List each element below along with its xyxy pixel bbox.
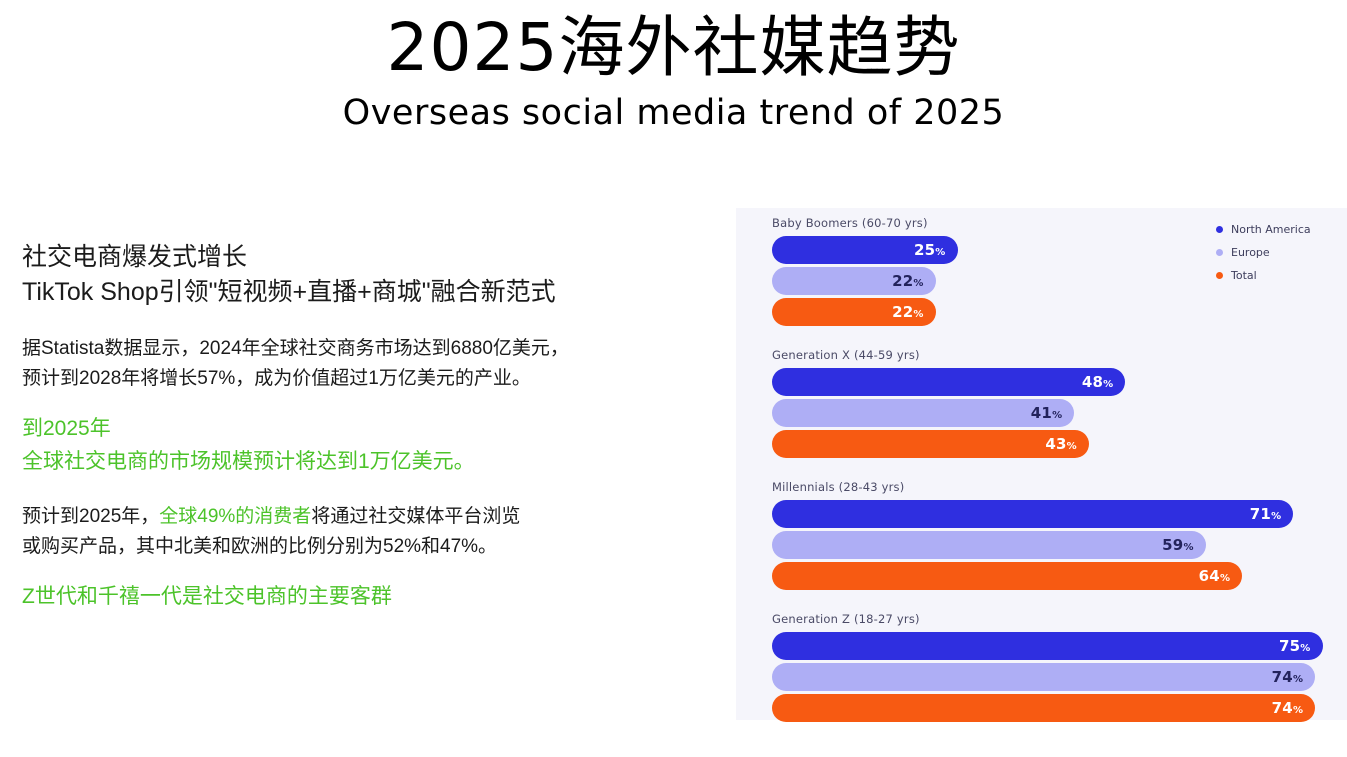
paragraph-2-text-b: 将通过社交媒体平台浏览: [311, 506, 520, 527]
chart-legend: North AmericaEuropeTotal: [1216, 220, 1336, 289]
bar-row: 41%: [772, 399, 1347, 427]
legend-dot-icon: [1216, 272, 1223, 279]
legend-item-label: North America: [1231, 223, 1311, 236]
legend-item[interactable]: Total: [1216, 266, 1336, 285]
bar-row: 74%: [772, 663, 1347, 691]
bar-north-america[interactable]: 71%: [772, 500, 1293, 528]
legend-dot-icon: [1216, 249, 1223, 256]
bar-group-label: Generation Z (18-27 yrs): [772, 612, 1347, 626]
bar-total[interactable]: 74%: [772, 694, 1315, 722]
bar-value-label: 64%: [1199, 567, 1231, 585]
page-title: 2025海外社媒趋势: [0, 6, 1347, 90]
bar-value-label: 74%: [1272, 668, 1304, 686]
bar-row: 43%: [772, 430, 1347, 458]
paragraph-1-line-1: 据Statista数据显示，2024年全球社交商务市场达到6880亿美元，: [22, 334, 694, 364]
bar-value-label: 48%: [1082, 373, 1114, 391]
bar-chart: Baby Boomers (60-70 yrs)25%22%22%Generat…: [772, 216, 1347, 720]
spacer: [22, 394, 694, 412]
bar-value-label: 75%: [1279, 637, 1311, 655]
bar-group: Millennials (28-43 yrs)71%59%64%: [772, 480, 1347, 590]
bar-value-label: 59%: [1162, 536, 1194, 554]
spacer: [22, 562, 694, 580]
spacer: [22, 478, 694, 502]
green-statement-line-2: 全球社交电商的市场规模预计将达到1万亿美元。: [22, 445, 694, 478]
bar-value-label: 41%: [1031, 404, 1063, 422]
bar-group: Generation Z (18-27 yrs)75%74%74%: [772, 612, 1347, 722]
bar-europe[interactable]: 59%: [772, 531, 1206, 559]
green-statement-line-1: 到2025年: [22, 412, 694, 445]
bar-value-label: 25%: [914, 241, 946, 259]
legend-item[interactable]: North America: [1216, 220, 1336, 239]
headline-line-1: 社交电商爆发式增长: [22, 240, 694, 275]
bar-total[interactable]: 22%: [772, 298, 936, 326]
legend-item-label: Europe: [1231, 246, 1270, 259]
bar-group-label: Millennials (28-43 yrs): [772, 480, 1347, 494]
bar-north-america[interactable]: 25%: [772, 236, 958, 264]
bar-value-label: 71%: [1250, 505, 1282, 523]
legend-dot-icon: [1216, 226, 1223, 233]
bar-europe[interactable]: 41%: [772, 399, 1074, 427]
page-subtitle: Overseas social media trend of 2025: [0, 90, 1347, 136]
title-block: 2025海外社媒趋势 Overseas social media trend o…: [0, 6, 1347, 136]
bar-value-label: 43%: [1045, 435, 1077, 453]
bar-total[interactable]: 64%: [772, 562, 1242, 590]
bar-row: 59%: [772, 531, 1347, 559]
left-text-column: 社交电商爆发式增长 TikTok Shop引领"短视频+直播+商城"融合新范式 …: [22, 240, 694, 613]
bar-europe[interactable]: 22%: [772, 267, 936, 295]
headline-line-2: TikTok Shop引领"短视频+直播+商城"融合新范式: [22, 275, 694, 310]
legend-item-label: Total: [1231, 269, 1257, 282]
spacer: [22, 310, 694, 334]
bar-north-america[interactable]: 75%: [772, 632, 1323, 660]
green-statement-2: Z世代和千禧一代是社交电商的主要客群: [22, 580, 694, 613]
bar-value-label: 22%: [892, 303, 924, 321]
bar-europe[interactable]: 74%: [772, 663, 1315, 691]
bar-north-america[interactable]: 48%: [772, 368, 1125, 396]
bar-row: 75%: [772, 632, 1347, 660]
bar-row: 71%: [772, 500, 1347, 528]
paragraph-2-line-2: 或购买产品，其中北美和欧洲的比例分别为52%和47%。: [22, 532, 694, 562]
bar-group: Generation X (44-59 yrs)48%41%43%: [772, 348, 1347, 458]
legend-item[interactable]: Europe: [1216, 243, 1336, 262]
bar-row: 22%: [772, 298, 1347, 326]
bar-row: 74%: [772, 694, 1347, 722]
paragraph-1-line-2: 预计到2028年将增长57%，成为价值超过1万亿美元的产业。: [22, 364, 694, 394]
bar-row: 48%: [772, 368, 1347, 396]
paragraph-2-highlight: 全球49%的消费者: [159, 506, 311, 527]
paragraph-2-text-a: 预计到2025年，: [22, 506, 159, 527]
bar-total[interactable]: 43%: [772, 430, 1089, 458]
bar-value-label: 74%: [1272, 699, 1304, 717]
bar-group-label: Generation X (44-59 yrs): [772, 348, 1347, 362]
bar-value-label: 22%: [892, 272, 924, 290]
bar-row: 64%: [772, 562, 1347, 590]
paragraph-2-line-1: 预计到2025年，全球49%的消费者将通过社交媒体平台浏览: [22, 502, 694, 532]
